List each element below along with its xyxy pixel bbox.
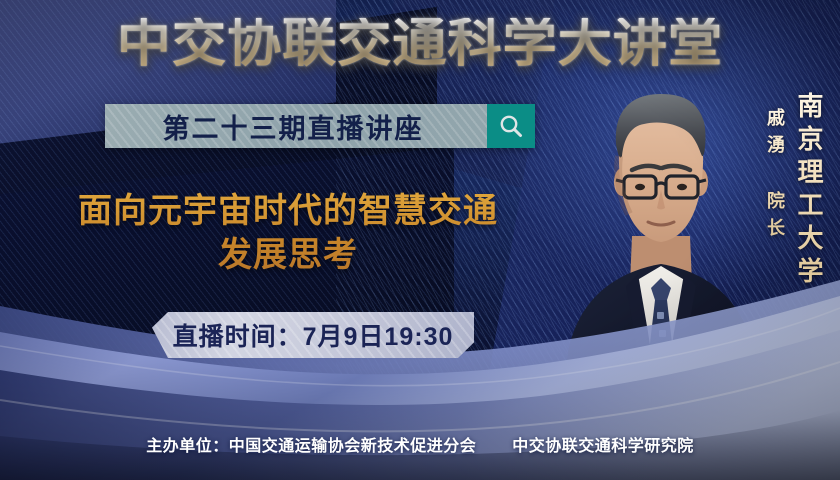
speaker-name-title: 戚湧 院长 bbox=[762, 108, 788, 245]
lecture-topic: 面向元宇宙时代的智慧交通 发展思考 bbox=[28, 190, 548, 277]
organizer-footer: 主办单位：中国交通运输协会新技术促进分会 中交协联交通科学研究院 bbox=[0, 432, 840, 456]
broadcast-time-label: 直播时间：7月9日19:30 bbox=[173, 317, 454, 353]
organizer-primary: 主办单位：中国交通运输协会新技术促进分会 bbox=[146, 438, 476, 455]
episode-banner: 第二十三期直播讲座 bbox=[105, 104, 535, 148]
live-broadcast-poster: 中交协联交通科学大讲堂 中交协联交通科学大讲堂 第二十三期直播讲座 面向元宇宙时… bbox=[0, 0, 840, 480]
broadcast-time-pill: 直播时间：7月9日19:30 bbox=[152, 312, 474, 358]
speaker-organization: 南京理工大学 bbox=[791, 92, 828, 290]
search-icon-block[interactable] bbox=[487, 104, 535, 148]
organizer-secondary: 中交协联交通科学研究院 bbox=[512, 438, 694, 455]
main-title: 中交协联交通科学大讲堂 bbox=[0, 18, 840, 70]
episode-label: 第二十三期直播讲座 bbox=[105, 107, 487, 146]
lecture-topic-line1: 面向元宇宙时代的智慧交通 bbox=[78, 192, 498, 230]
lecture-topic-line2: 发展思考 bbox=[28, 234, 548, 278]
search-icon bbox=[498, 113, 524, 139]
